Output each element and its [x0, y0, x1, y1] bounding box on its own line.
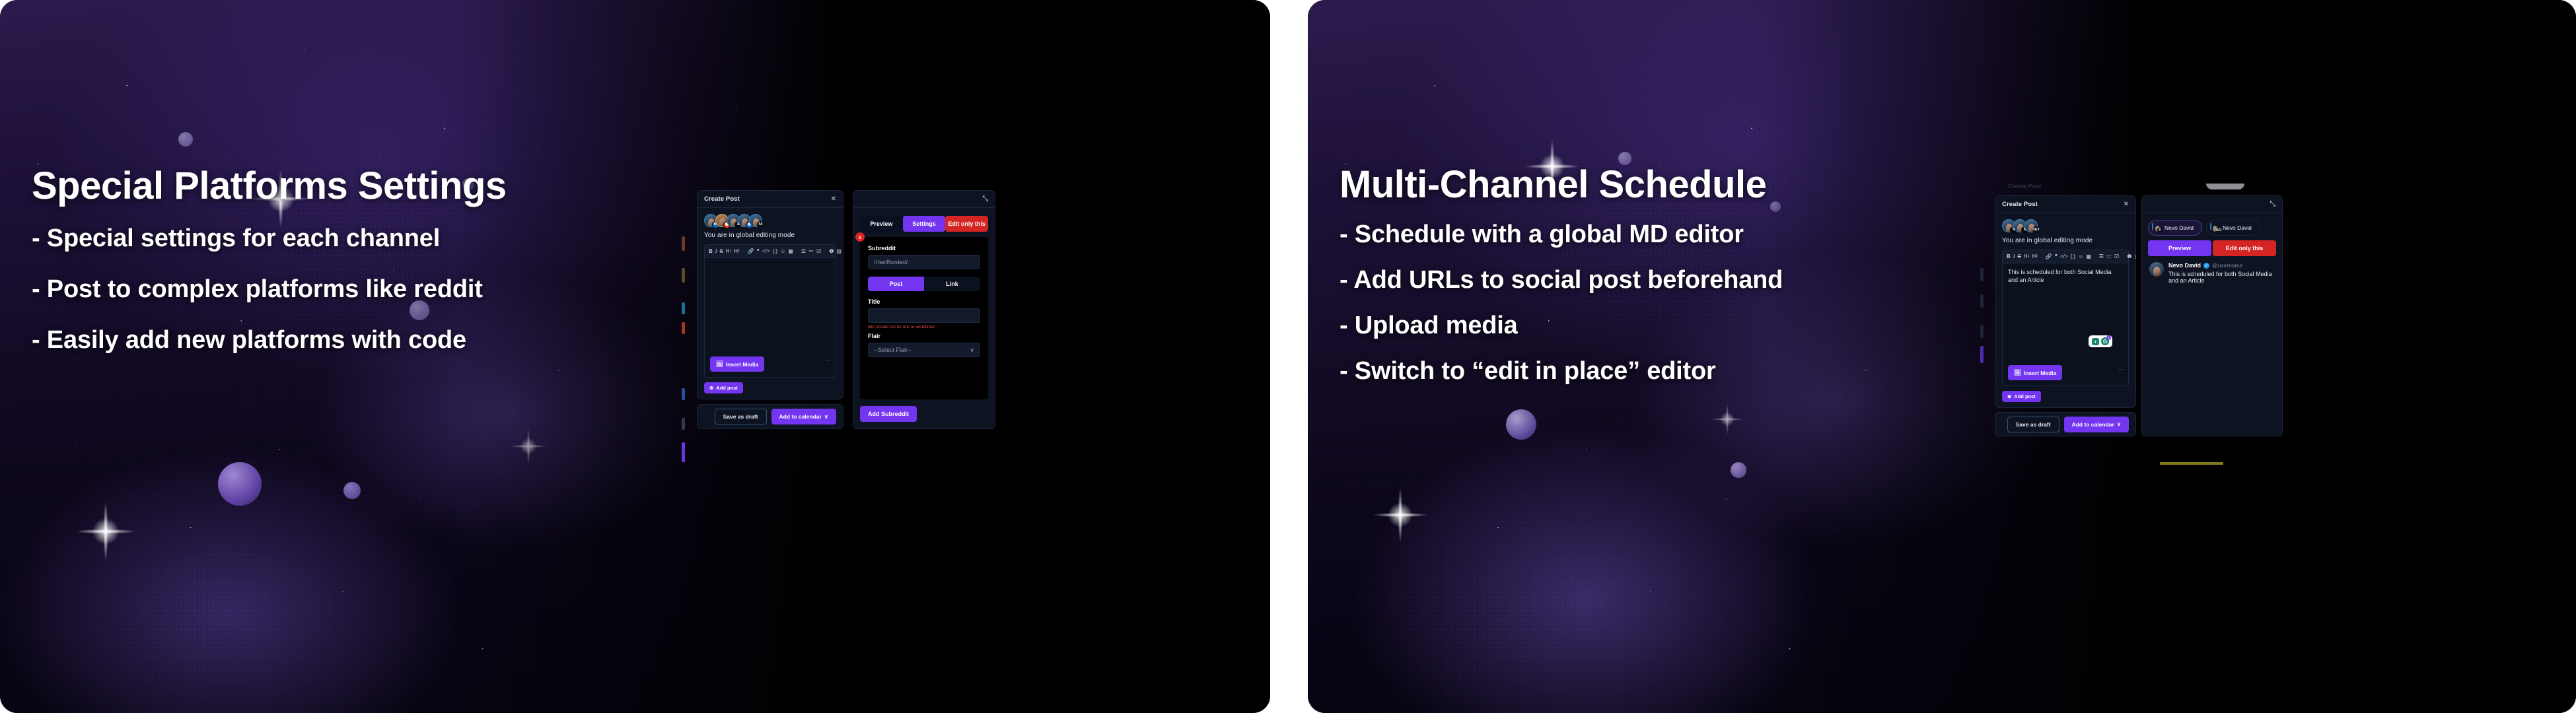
background-app-strip — [1980, 346, 1984, 363]
add-post-label: Add post — [716, 385, 738, 391]
italic-icon[interactable]: I — [2013, 254, 2015, 259]
background-app-strip — [682, 442, 685, 462]
account-chip-dev[interactable]: DEV Nevo David — [2206, 220, 2260, 236]
save-draft-button[interactable]: Save as draft — [715, 409, 767, 424]
page-title: Special Platforms Settings — [32, 166, 732, 207]
list-item: - Add URLs to social post beforehand — [1340, 267, 2040, 294]
slide-stage: Special Platforms Settings - Special set… — [0, 0, 2576, 713]
title-input[interactable] — [868, 308, 980, 323]
title-error-message: title should not be null or undefined — [868, 325, 980, 329]
list-item: - Upload media — [1340, 312, 2040, 339]
close-icon[interactable]: ✕ — [2124, 201, 2129, 208]
bold-icon[interactable]: B — [2007, 254, 2011, 259]
flair-select[interactable]: --Select Flair-- ∨ — [868, 343, 980, 357]
editor-content: This is scheduled for both Social Media … — [2008, 268, 2123, 284]
background-app-strip — [1980, 268, 1984, 281]
chevron-down-icon: ∨ — [824, 413, 828, 421]
background-app-strip — [682, 418, 685, 430]
task-list-icon[interactable]: ☑ — [2114, 254, 2119, 259]
info-icon[interactable]: ❶ — [829, 249, 834, 254]
expand-icon[interactable]: ⤡ — [982, 195, 988, 203]
preview-card: ⤡ X Nevo David DEV Nevo David — [2141, 195, 2283, 436]
create-post-mockup: Create Post ✕ in ◉ X ◆ M You are in glob… — [697, 190, 995, 429]
background-window-title: Create Post — [2008, 183, 2041, 189]
lightbulb-icon: ◗ — [2092, 338, 2099, 345]
insert-media-button[interactable]: 🖼 Insert Media — [2008, 365, 2062, 380]
chip-label: Nevo David — [2165, 224, 2194, 231]
card-header: Create Post ✕ — [698, 191, 843, 208]
insert-media-label: Insert Media — [726, 361, 759, 368]
link-icon[interactable]: 🔗 — [2046, 254, 2052, 259]
code-icon[interactable]: </> — [2060, 254, 2068, 259]
title-label: Title — [868, 298, 980, 305]
verified-badge-icon: ✓ — [2203, 263, 2209, 269]
footer-actions: Save as draft Add to calendar ∨ — [698, 409, 843, 424]
create-post-footer-card: Save as draft Add to calendar ∨ — [1995, 412, 2136, 436]
card-header: ⤡ — [853, 191, 995, 208]
heading-1-icon[interactable]: H¹ — [2024, 254, 2029, 259]
emoji-icon[interactable]: ☺ — [2078, 254, 2083, 259]
account-chip-row: X Nevo David DEV Nevo David — [2148, 220, 2276, 236]
insert-media-button[interactable]: 🖼 Insert Media — [710, 356, 764, 372]
plus-circle-icon: ⊕ — [709, 385, 713, 391]
editor-toolbar: B I S H¹ H² 🔗 ❞ </> {;} ☺ — [705, 245, 836, 258]
create-post-card: Create Post ✕ X X DEV You are in global … — [1995, 195, 2136, 408]
emoji-icon[interactable]: ☺ — [780, 249, 785, 254]
editor-textarea[interactable]: ⋯ 🖼 Insert Media — [705, 258, 836, 377]
card-body: X X DEV You are in global editing mode B… — [1995, 213, 2135, 407]
add-post-button[interactable]: ⊕ Add post — [704, 382, 743, 393]
tab-preview[interactable]: Preview — [860, 216, 903, 232]
card-body: in ◉ X ◆ M You are in global editing mod… — [698, 208, 843, 399]
list-item: - Post to complex platforms like reddit — [32, 276, 732, 303]
add-to-calendar-button[interactable]: Add to calendar ∨ — [2064, 417, 2129, 432]
background-app-strip — [682, 302, 685, 314]
slide-panel-1: Special Platforms Settings - Special set… — [0, 0, 1270, 713]
page-title: Create Post — [704, 195, 740, 203]
preview-author: Nevo David ✓ @username — [2168, 262, 2275, 269]
bold-icon[interactable]: B — [709, 249, 713, 254]
background-app-strip — [682, 388, 685, 400]
flair-value: --Select Flair-- — [874, 347, 912, 353]
panel-copy: Special Platforms Settings - Special set… — [32, 166, 732, 378]
link-icon[interactable]: 🔗 — [748, 249, 754, 254]
task-list-icon[interactable]: ☑ — [816, 249, 821, 254]
add-subreddit-button[interactable]: Add Subreddit — [860, 406, 917, 422]
table-icon[interactable]: ▦ — [2086, 254, 2091, 259]
avatar[interactable]: M — [749, 214, 762, 227]
resize-handle[interactable]: ⋯ — [826, 358, 832, 364]
edit-only-this-button[interactable]: Edit only this — [945, 216, 988, 232]
add-to-calendar-button[interactable]: Add to calendar ∨ — [771, 409, 836, 424]
bullet-list: - Schedule with a global MD editor - Add… — [1340, 221, 2040, 385]
editing-mode-note: You are in global editing mode — [704, 232, 836, 239]
markdown-editor[interactable]: B I S H¹ H² 🔗 ❞ </> {;} ☺ — [2002, 250, 2129, 386]
code-icon[interactable]: </> — [762, 249, 770, 254]
ordered-list-icon[interactable]: ≔ — [808, 249, 814, 254]
page-title: Multi-Channel Schedule — [1340, 165, 2040, 205]
plus-circle-icon: ⊕ — [2007, 393, 2011, 399]
edit-only-this-button[interactable]: Edit only this — [2213, 240, 2276, 256]
background-app-strip — [682, 322, 685, 334]
add-post-label: Add post — [2014, 393, 2036, 399]
heading-2-icon[interactable]: H² — [2032, 254, 2037, 259]
post-type-segment: Post Link — [868, 277, 980, 291]
segment-post[interactable]: Post — [868, 277, 924, 291]
avatar[interactable]: DEV — [2024, 219, 2038, 232]
preview-post-body: Nevo David ✓ @username This is scheduled… — [2168, 262, 2275, 284]
strikethrough-icon[interactable]: S — [2017, 254, 2021, 259]
author-name: Nevo David — [2168, 262, 2201, 269]
settings-tabs: Preview Settings Edit only this — [860, 216, 988, 232]
account-chip-x[interactable]: X Nevo David — [2148, 220, 2202, 236]
tab-preview[interactable]: Preview — [2148, 240, 2211, 256]
footer-actions: Save as draft Add to calendar ∨ — [1995, 417, 2135, 432]
preview-post-text: This is scheduled for both Social Media … — [2168, 271, 2275, 284]
strikethrough-icon[interactable]: S — [719, 249, 723, 254]
bullet-list: - Special settings for each channel - Po… — [32, 225, 732, 354]
chevron-down-icon: ∨ — [970, 347, 974, 354]
save-draft-button[interactable]: Save as draft — [2007, 417, 2059, 432]
card-header: ⤡ — [2142, 196, 2282, 213]
background-app-strip — [1980, 294, 1984, 308]
expand-icon[interactable]: ⤡ — [2270, 201, 2275, 208]
add-to-calendar-label: Add to calendar — [779, 413, 822, 420]
chevron-down-icon: ∨ — [2117, 421, 2121, 428]
code-block-icon[interactable]: {;} — [2071, 254, 2076, 259]
close-icon[interactable]: ✕ — [831, 196, 836, 203]
table-icon[interactable]: ▦ — [788, 249, 793, 254]
flair-label: Flair — [868, 333, 980, 339]
markdown-editor[interactable]: B I S H¹ H² 🔗 ❞ </> {;} ☺ — [704, 244, 836, 378]
editing-mode-note: You are in global editing mode — [2002, 237, 2129, 244]
dev-icon: DEV — [2032, 226, 2040, 234]
quote-icon[interactable]: ❞ — [757, 249, 760, 254]
grammarly-count-badge: 1 — [2106, 335, 2111, 340]
progress-bar — [2160, 462, 2223, 465]
avatar: X — [2152, 223, 2161, 232]
grammarly-widget[interactable]: ◗ G 1 — [2089, 335, 2112, 347]
insert-media-label: Insert Media — [2024, 370, 2057, 376]
author-handle: @username — [2212, 262, 2242, 269]
tab-settings[interactable]: Settings — [903, 216, 946, 232]
italic-icon[interactable]: I — [715, 249, 717, 254]
card-body: X Nevo David DEV Nevo David Preview Edit… — [2142, 213, 2282, 436]
code-block-icon[interactable]: {;} — [773, 249, 778, 254]
bullet-list-icon[interactable]: ☰ — [2099, 254, 2104, 259]
page-title: Create Post — [2002, 201, 2038, 208]
x-icon: X — [2157, 228, 2163, 233]
window-scroll-pill — [2206, 184, 2244, 189]
info-icon[interactable]: ❶ — [2127, 254, 2131, 259]
background-app-strip — [682, 236, 685, 251]
heading-2-icon[interactable]: H² — [734, 249, 739, 254]
mastodon-icon: M — [757, 221, 764, 228]
list-item: - Switch to “edit in place” editor — [1340, 358, 2040, 385]
chip-label: Nevo David — [2223, 224, 2252, 231]
account-avatar-row: in ◉ X ◆ M — [704, 214, 836, 227]
bullet-list-icon[interactable]: ☰ — [801, 249, 806, 254]
slide-panel-2: Multi-Channel Schedule - Schedule with a… — [1308, 0, 2576, 713]
background-app-strip — [682, 268, 685, 283]
create-post-footer-card: Save as draft Add to calendar ∨ — [697, 404, 843, 429]
resize-handle[interactable]: ⋯ — [2118, 366, 2124, 372]
remove-settings-icon[interactable]: x — [855, 232, 865, 242]
create-post-mockup: Create Post Create Post ✕ X X — [1995, 195, 2283, 436]
editor-textarea[interactable]: This is scheduled for both Social Media … — [2003, 263, 2128, 386]
platform-settings-card: ⤡ Preview Settings Edit only this x Subr… — [853, 190, 995, 429]
avatar: DEV — [2210, 223, 2219, 232]
ordered-list-icon[interactable]: ≔ — [2106, 254, 2112, 259]
dev-icon: DEV — [2215, 228, 2221, 233]
image-icon: 🖼 — [716, 360, 723, 368]
quote-icon[interactable]: ❞ — [2055, 254, 2057, 259]
create-post-card: Create Post ✕ in ◉ X ◆ M You are in glob… — [697, 190, 843, 399]
add-to-calendar-label: Add to calendar — [2072, 421, 2114, 428]
heading-1-icon[interactable]: H¹ — [726, 249, 731, 254]
avatar — [2149, 262, 2164, 277]
card-body: Preview Settings Edit only this x Subred… — [853, 208, 995, 428]
image-icon[interactable]: ▨ — [2134, 254, 2136, 259]
subreddit-label: Subreddit — [868, 245, 980, 252]
panel-copy: Multi-Channel Schedule - Schedule with a… — [1340, 165, 2040, 385]
background-app-strip — [1980, 325, 1984, 338]
editor-toolbar: B I S H¹ H² 🔗 ❞ </> {;} ☺ — [2003, 250, 2128, 263]
image-icon[interactable]: ▨ — [836, 249, 841, 254]
preview-post: Nevo David ✓ @username This is scheduled… — [2148, 256, 2276, 284]
card-header: Create Post ✕ — [1995, 196, 2135, 213]
image-icon: 🖼 — [2014, 369, 2021, 376]
account-avatar-row: X X DEV — [2002, 219, 2129, 232]
reddit-settings-panel: x Subreddit /r/selfhosted/ Post Link Tit… — [860, 237, 988, 399]
segment-link[interactable]: Link — [924, 277, 980, 291]
list-item: - Easily add new platforms with code — [32, 327, 732, 354]
grammarly-logo-icon: G 1 — [2101, 337, 2109, 345]
add-post-button[interactable]: ⊕ Add post — [2002, 391, 2041, 402]
subreddit-input[interactable]: /r/selfhosted/ — [868, 255, 980, 269]
list-item: - Special settings for each channel — [32, 225, 732, 252]
preview-tabs: Preview Edit only this — [2148, 240, 2276, 256]
list-item: - Schedule with a global MD editor — [1340, 221, 2040, 248]
